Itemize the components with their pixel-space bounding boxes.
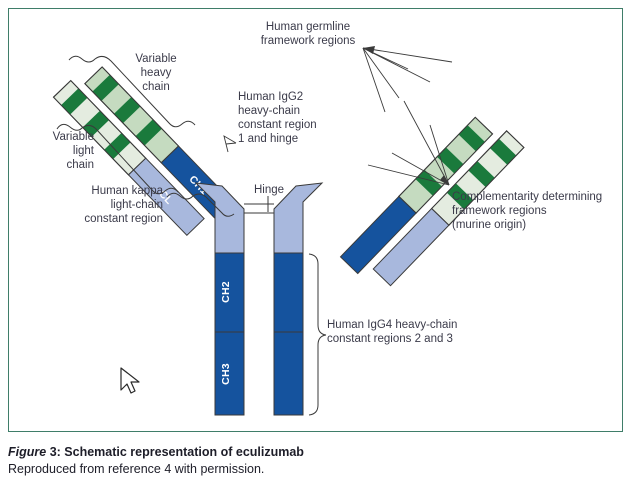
figure-page: CH1 CL	[0, 0, 633, 485]
label-human-kappa-light-chain-constant-region: Human kappa light-chain constant region	[28, 184, 163, 226]
caption-figure-number: 3:	[50, 445, 61, 459]
label-complementarity-determining-framework-regions: Complementarity determining framework re…	[452, 190, 624, 232]
label-human-germline-framework-regions: Human germline framework regions	[243, 20, 373, 48]
label-hinge: Hinge	[243, 183, 295, 197]
caption-title-text: Schematic representation of eculizumab	[64, 445, 304, 459]
label-variable-light-chain: Variable light chain	[8, 130, 94, 172]
caption-figure-word: Figure	[8, 445, 46, 459]
label-variable-heavy-chain: Variable heavy chain	[113, 52, 199, 94]
ch2-label: CH2	[220, 281, 232, 303]
right-ch3-segment	[274, 332, 303, 415]
germline-leader-lines	[363, 48, 452, 112]
figure-caption: Figure 3: Schematic representation of ec…	[8, 444, 623, 478]
label-human-igg4-heavy-chain-constant-regions: Human IgG4 heavy-chain constant regions …	[327, 318, 497, 346]
ch3-label: CH3	[220, 363, 232, 385]
label-human-igg2-heavy-chain-constant-region: Human IgG2 heavy-chain constant region 1…	[238, 90, 346, 146]
ch1-right-leader	[205, 128, 235, 136]
brace-igg4	[309, 254, 326, 415]
caption-line-title: Figure 3: Schematic representation of ec…	[8, 444, 623, 461]
igg2-leader-line-2	[226, 143, 236, 144]
caption-line-credit: Reproduced from reference 4 with permiss…	[8, 461, 623, 478]
mouse-cursor	[121, 368, 139, 393]
right-ch2-segment	[274, 253, 303, 332]
antibody-diagram: CH1 CL	[0, 0, 633, 485]
